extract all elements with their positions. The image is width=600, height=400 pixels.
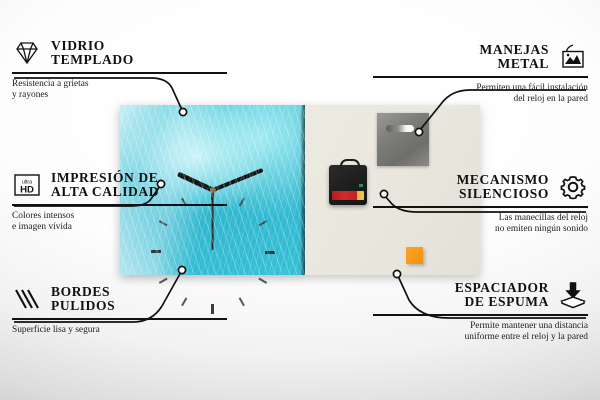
feature-mecanismo-silencioso: MECANISMO SILENCIOSO Las manecillas del … [373,172,588,236]
diamond-icon [12,38,42,68]
feature-title: MANEJAS METAL [480,43,549,72]
ultra-hd-icon: ultra HD [12,170,42,200]
svg-text:HD: HD [20,184,34,195]
silent-clock-mechanism [329,165,367,205]
feature-manejas-metal: MANEJAS METAL Permiten una fácil instala… [373,42,588,106]
feature-title: ESPACIADOR DE ESPUMA [455,281,549,310]
feature-title: MECANISMO SILENCIOSO [457,173,549,202]
infographic-canvas: VIDRIO TEMPLADO Resistencia a grietas y … [0,0,600,400]
foam-spacer-arrow-icon [558,280,588,310]
feature-divider [373,314,588,316]
mechanism-hanging-loop [340,159,360,169]
clock-tick [212,251,267,284]
feature-divider [12,72,227,74]
feature-impresion-alta-calidad: ultra HD IMPRESIÓN DE ALTA CALIDAD Color… [12,170,227,234]
feature-description: Las manecillas del reloj no emiten ningú… [373,213,588,236]
feature-title: VIDRIO TEMPLADO [51,39,134,68]
battery [332,191,364,200]
framed-picture-hanger-icon [558,42,588,72]
metal-hanger-plate [377,113,429,166]
feature-description: Permite mantener una distancia uniforme … [373,321,588,344]
clock-tick [158,251,213,284]
feature-divider [12,318,227,320]
clock-tick [213,251,275,253]
feature-divider [12,204,227,206]
feature-vidrio-templado: VIDRIO TEMPLADO Resistencia a grietas y … [12,38,227,102]
feature-description: Superficie lisa y segura [12,325,227,337]
feature-description: Colores intensos e imagen vívida [12,211,227,234]
feature-bordes-pulidos: BORDES PULIDOS Superficie lisa y segura [12,284,227,336]
polished-edges-icon [12,284,42,314]
clock-tick [151,251,213,253]
feature-title: IMPRESIÓN DE ALTA CALIDAD [51,171,159,200]
feature-title: BORDES PULIDOS [51,285,115,314]
foam-spacer [406,247,423,264]
gear-icon [558,172,588,202]
hanger-keyhole-slot [386,125,414,132]
mechanism-indicator [359,184,363,187]
feature-divider [373,206,588,208]
feature-divider [373,76,588,78]
feature-description: Permiten una fácil instalación del reloj… [373,83,588,106]
feature-description: Resistencia a grietas y rayones [12,79,227,102]
feature-espaciador-espuma: ESPACIADOR DE ESPUMA Permite mantener un… [373,280,588,344]
